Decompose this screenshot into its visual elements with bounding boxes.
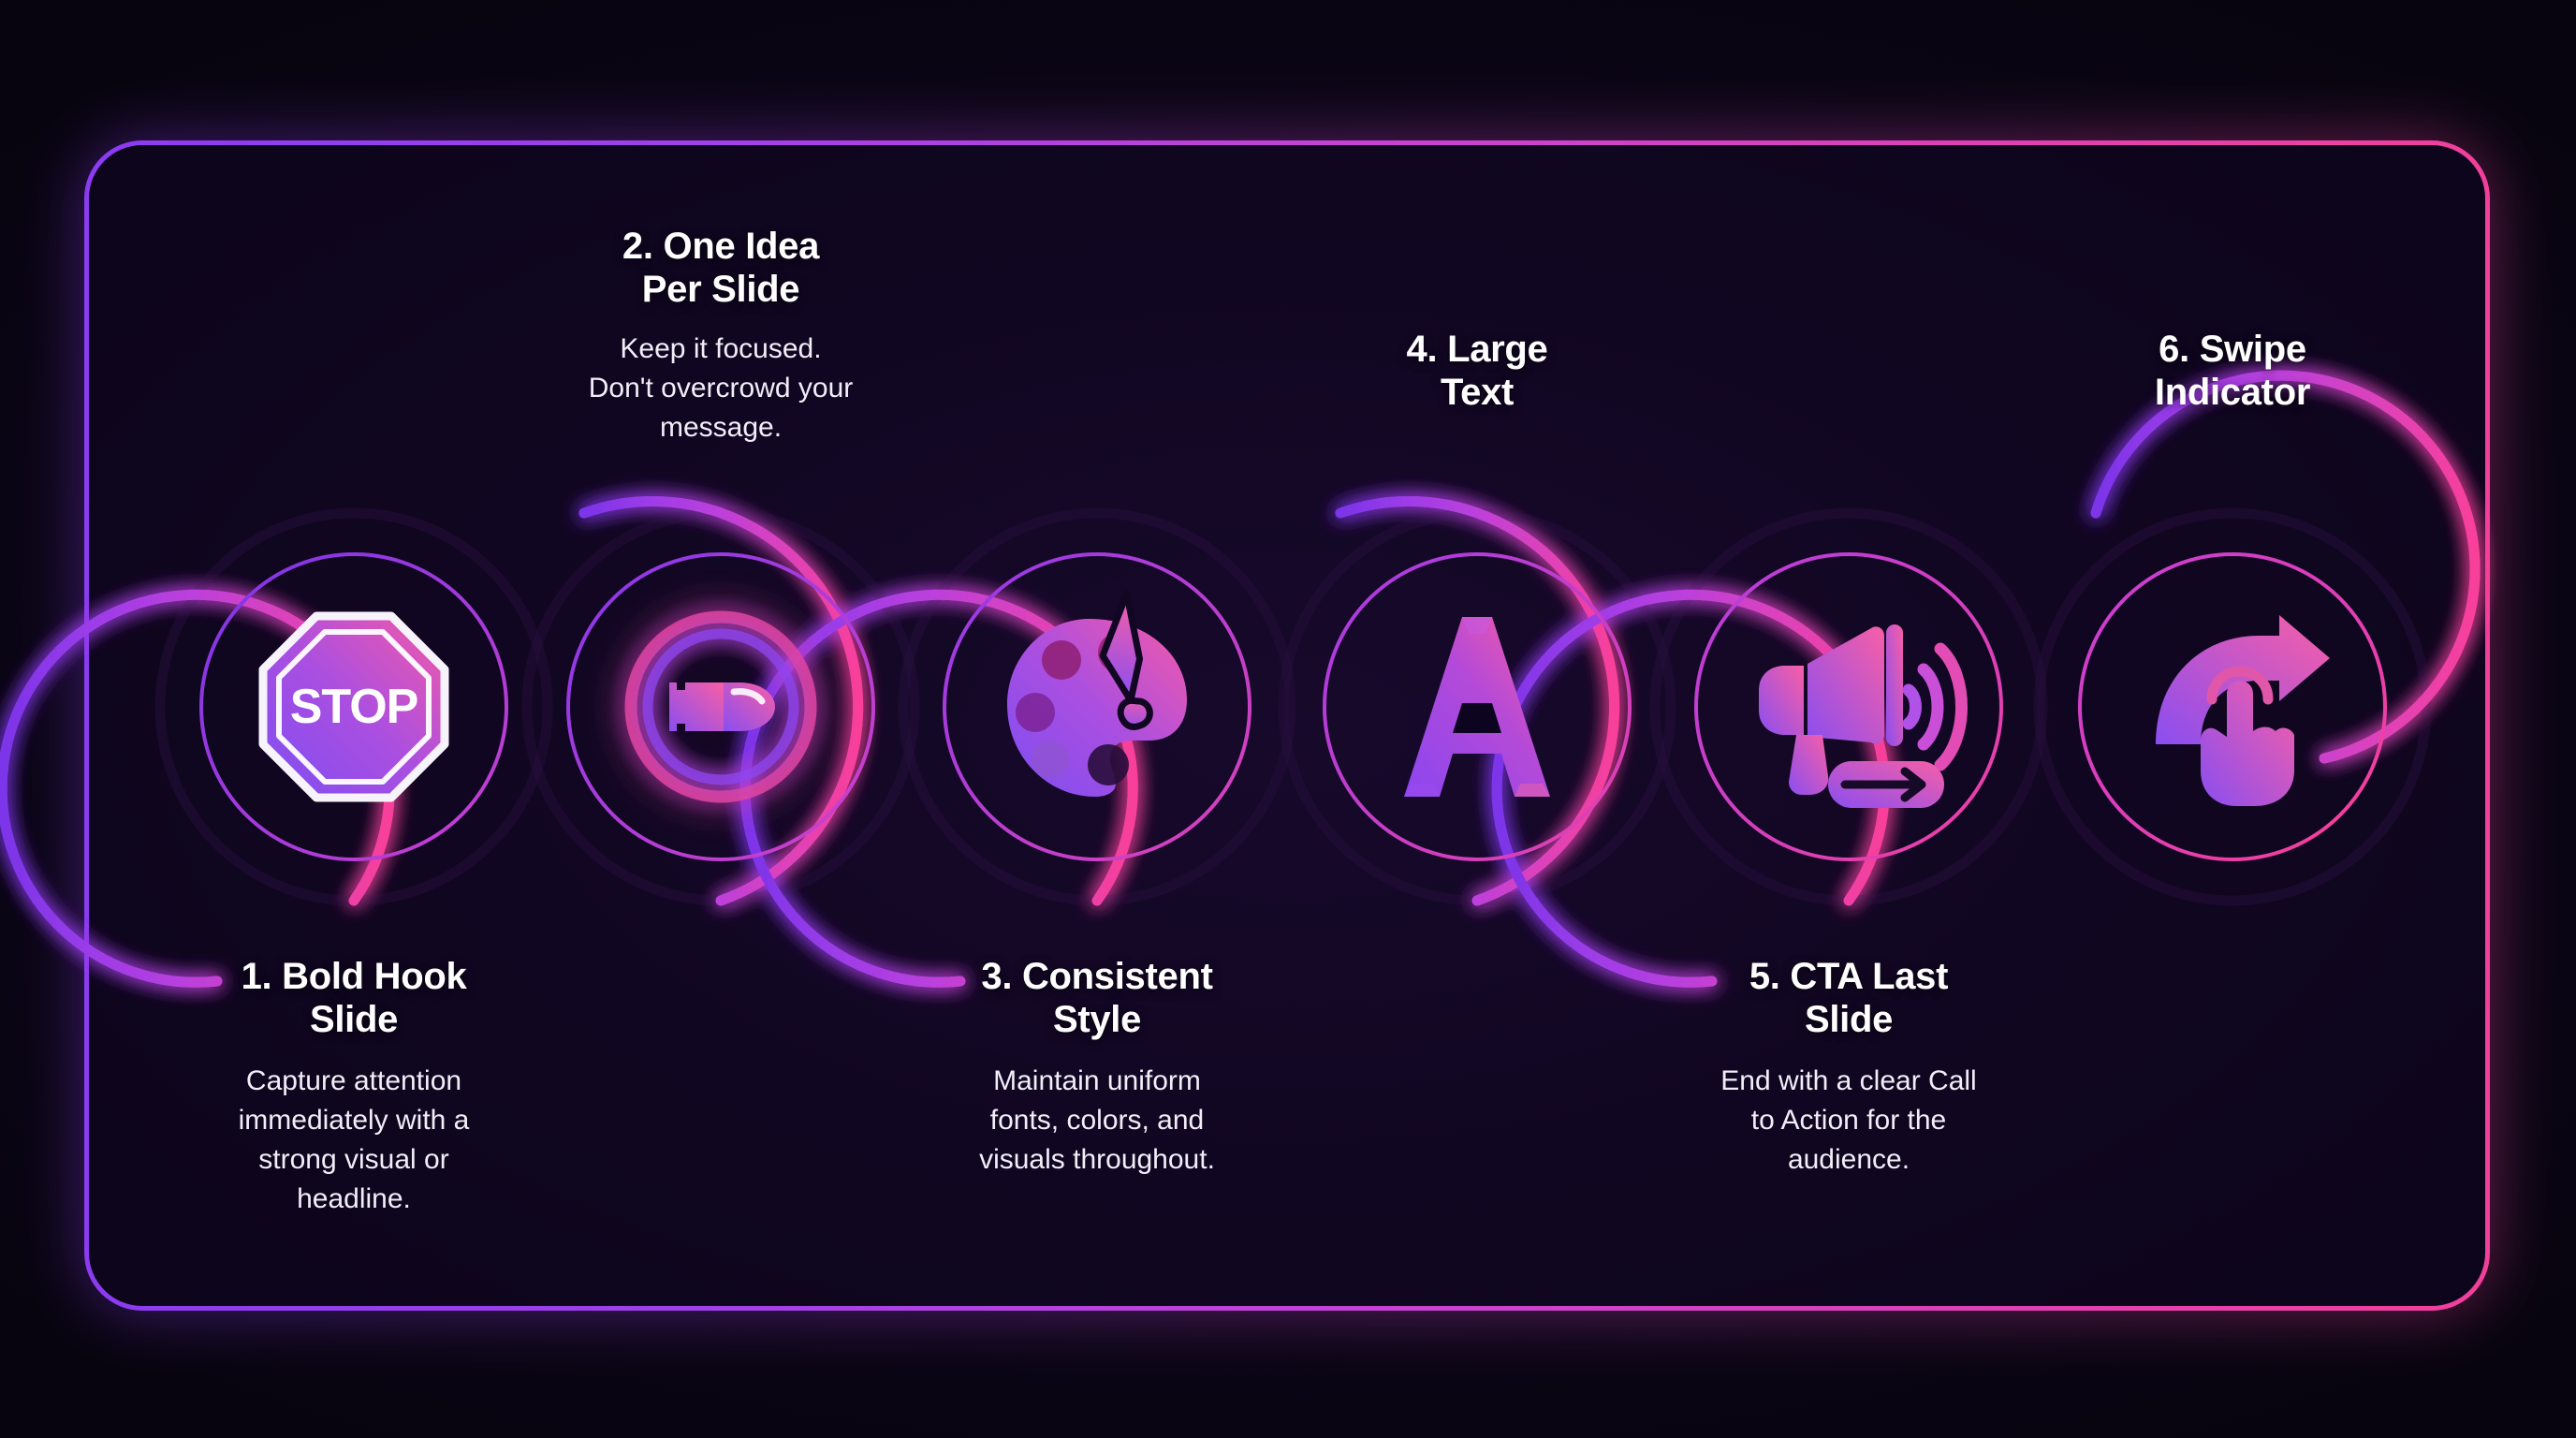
step-label-2: 2. One Idea Per Slide Keep it focused. D… bbox=[589, 225, 854, 448]
step-title-1: 1. Bold Hook Slide bbox=[239, 955, 470, 1041]
step-title-5: 5. CTA Last Slide bbox=[1720, 955, 1976, 1041]
step-description-1: Capture attention immediately with a str… bbox=[239, 1062, 470, 1219]
step-title-3: 3. Consistent Style bbox=[979, 955, 1215, 1041]
step-label-4: 4. Large Text bbox=[1407, 328, 1548, 433]
step-label-5: 5. CTA Last Slide End with a clear Call … bbox=[1720, 955, 1976, 1180]
step-label-6: 6. Swipe Indicator bbox=[2155, 328, 2310, 433]
step-label-1: 1. Bold Hook Slide Capture attention imm… bbox=[239, 955, 470, 1219]
step-description-5: End with a clear Call to Action for the … bbox=[1720, 1062, 1976, 1180]
step-description-3: Maintain uniform fonts, colors, and visu… bbox=[979, 1062, 1215, 1180]
infographic-canvas: STOP bbox=[0, 0, 2576, 1438]
step-title-4: 4. Large Text bbox=[1407, 328, 1548, 414]
step-title-2: 2. One Idea Per Slide bbox=[589, 225, 854, 311]
step-description-2: Keep it focused. Don't overcrowd your me… bbox=[589, 330, 854, 448]
step-title-6: 6. Swipe Indicator bbox=[2155, 328, 2310, 414]
step-label-3: 3. Consistent Style Maintain uniform fon… bbox=[979, 955, 1215, 1180]
